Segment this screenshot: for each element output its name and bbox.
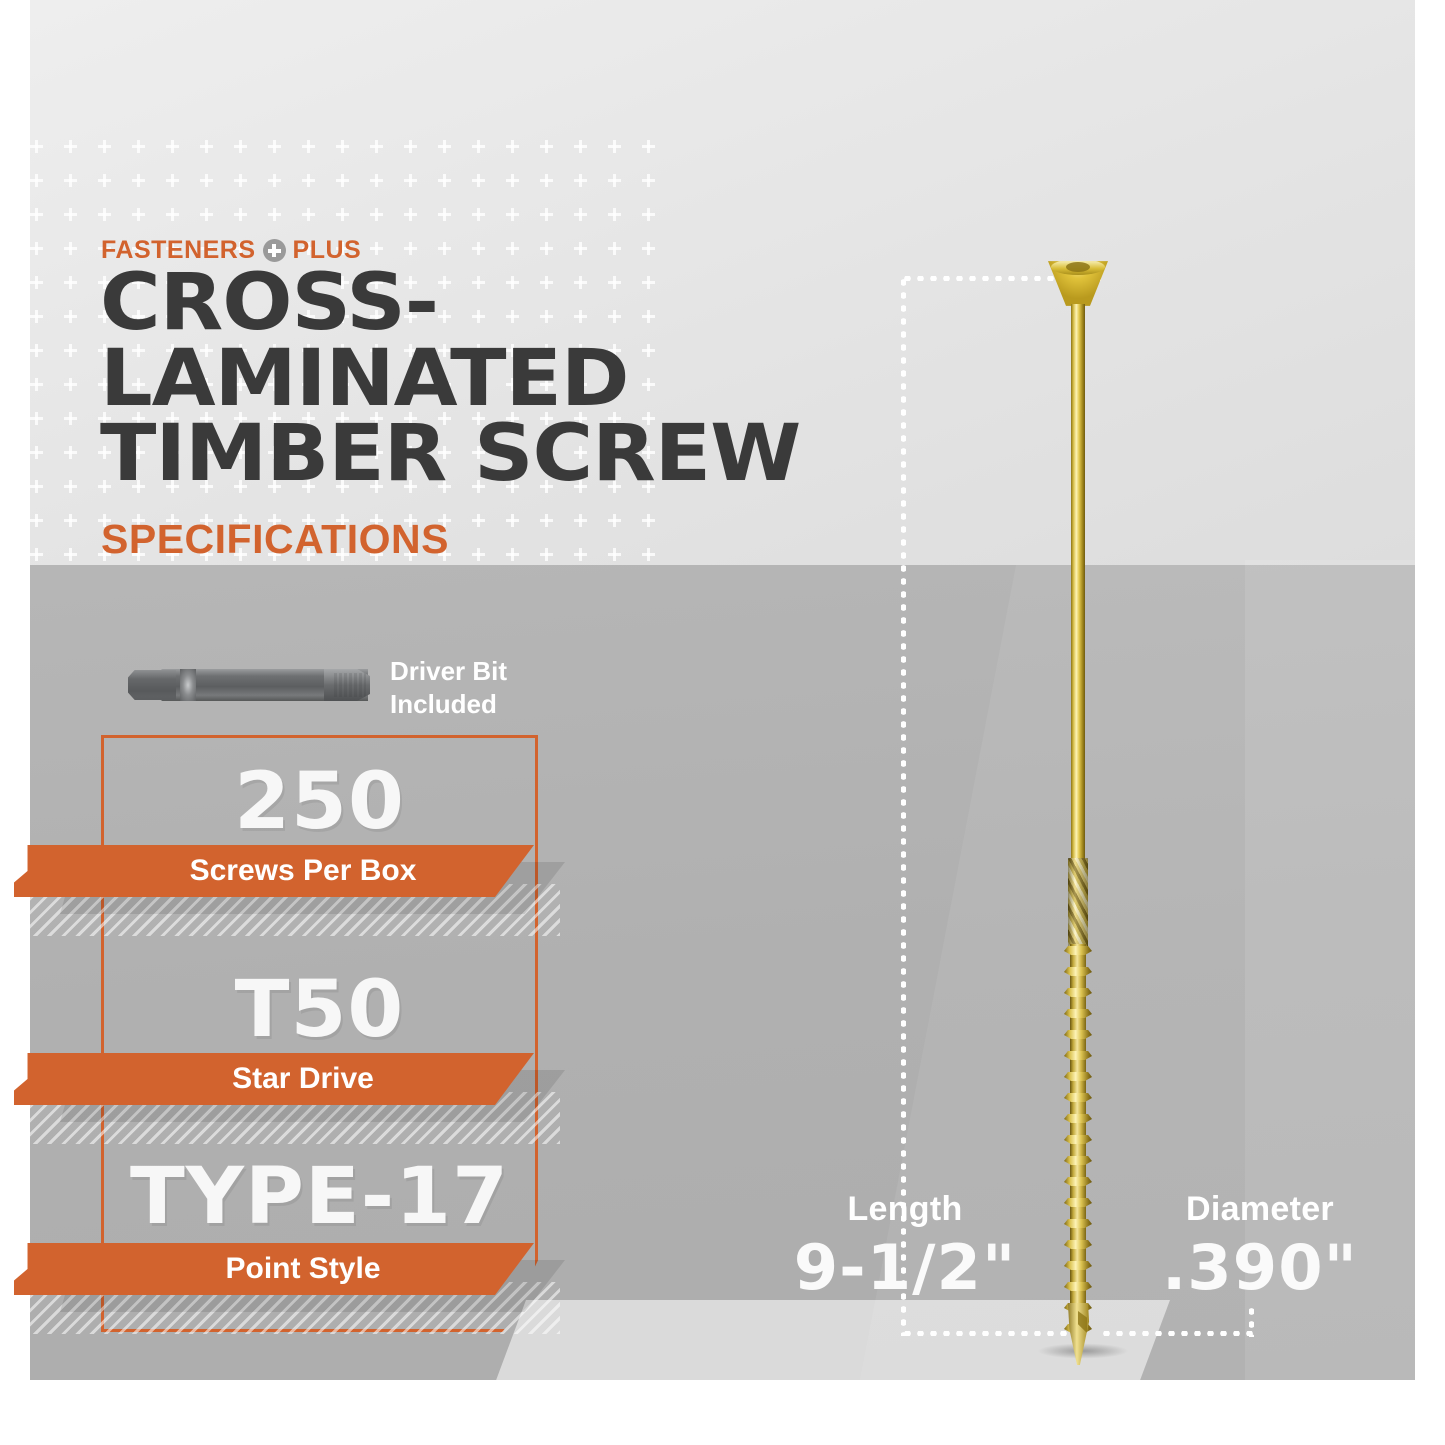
spec-label-1: Screws Per Box (14, 845, 534, 897)
spec-value-3: TYPE-17 (94, 1152, 544, 1242)
length-measurement: Length 9-1/2" (790, 1190, 1020, 1304)
page-subtitle: SPECIFICATIONS (101, 516, 449, 563)
driver-bit-label-line-2: Included (390, 688, 507, 721)
infographic-canvas: FASTENERS PLUS CROSS- LAMINATED TIMBER S… (0, 0, 1445, 1445)
spec-banner-3: Point Style (14, 1243, 534, 1295)
diameter-measurement: Diameter .390" (1140, 1190, 1380, 1304)
driver-bit-label: Driver Bit Included (390, 655, 507, 720)
length-value: 9-1/2" (787, 1231, 1024, 1304)
driver-bit-icon (128, 666, 368, 704)
diameter-caption: Diameter (1140, 1190, 1380, 1229)
spec-value-2: T50 (94, 965, 544, 1055)
spec-banner-2: Star Drive (14, 1053, 534, 1105)
screw-threads (1064, 946, 1092, 1326)
length-guide-vertical (901, 276, 906, 1336)
screw-head (1048, 258, 1108, 310)
length-caption: Length (790, 1190, 1020, 1229)
spec-value-1: 250 (94, 757, 544, 847)
bit-waist (180, 669, 196, 701)
spec-label-2: Star Drive (14, 1053, 534, 1105)
title-line-2: LAMINATED (100, 342, 969, 418)
title-line-3: TIMBER SCREW (100, 417, 969, 493)
spec-banner-1: Screws Per Box (14, 845, 534, 897)
bit-torx-tip (324, 669, 370, 701)
title-line-1: CROSS- (100, 266, 969, 342)
diameter-value: .390" (1136, 1231, 1383, 1304)
page-title: CROSS- LAMINATED TIMBER SCREW (100, 266, 969, 493)
spec-label-3: Point Style (14, 1243, 534, 1295)
screw-illustration (1048, 258, 1108, 1343)
screw-shank (1071, 304, 1085, 874)
bit-hex-end (128, 670, 176, 700)
diameter-guide-bottom-right (1100, 1331, 1253, 1336)
diameter-guide-tick (1249, 1305, 1254, 1337)
driver-bit-label-line-1: Driver Bit (390, 655, 507, 688)
screw-knurled-section (1068, 858, 1088, 948)
